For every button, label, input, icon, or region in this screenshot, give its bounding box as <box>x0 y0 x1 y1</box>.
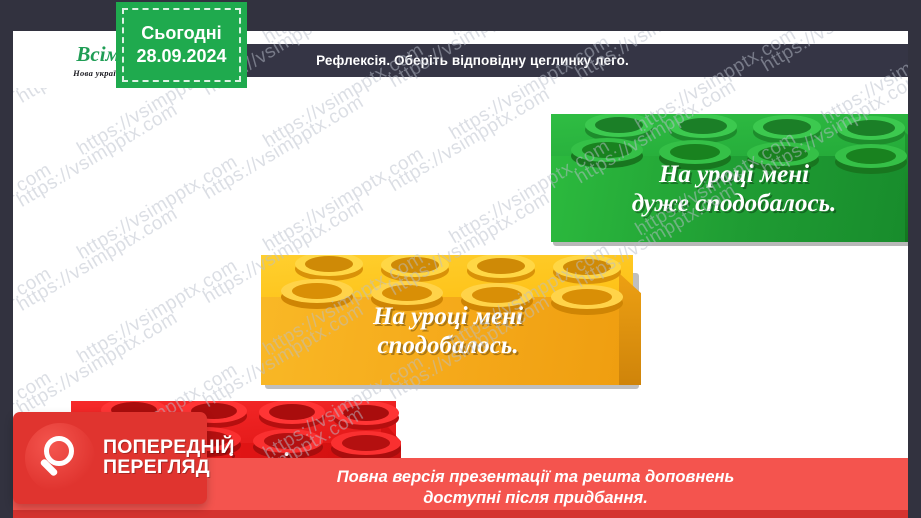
page-title: Рефлексія. Оберіть відповідну цеглинку л… <box>316 53 629 68</box>
brick-label-line1: На уроці мені <box>543 161 908 190</box>
purchase-banner-base <box>13 510 908 518</box>
today-label: Сьогодні <box>141 23 221 44</box>
frame-right <box>908 0 921 518</box>
magnifier-icon <box>25 423 95 493</box>
purchase-banner-text: Повна версія презентації та решта доповн… <box>187 467 735 508</box>
preview-badge-line2: ПЕРЕГЛЯД <box>103 458 235 478</box>
brick-label-line2: сподобалось. <box>255 332 641 361</box>
purchase-banner-line2: доступні після придбання. <box>337 488 735 509</box>
purchase-banner-line1: Повна версія презентації та решта доповн… <box>337 467 735 488</box>
brand-logo-name-main: Всім <box>76 42 120 66</box>
brick-label-yellow: На уроці мені сподобалось. <box>255 303 641 360</box>
today-date: 28.09.2024 <box>136 46 226 67</box>
lego-brick-green[interactable]: На уроці мені дуже сподобалось. <box>543 114 908 246</box>
preview-badge-text: ПОПЕРЕДНІЙ ПЕРЕГЛЯД <box>103 438 235 478</box>
brick-label-green: На уроці мені дуже сподобалось. <box>543 161 908 218</box>
brick-label-line2: дуже сподобалось. <box>543 190 908 219</box>
frame-left <box>0 0 13 518</box>
lego-brick-yellow[interactable]: На уроці мені сподобалось. <box>255 255 641 389</box>
preview-badge[interactable]: ПОПЕРЕДНІЙ ПЕРЕГЛЯД <box>13 412 207 504</box>
brick-label-line1: На уроці мені <box>255 303 641 332</box>
slide-canvas: На уроці мені дуже сподобалось. <box>0 0 921 518</box>
today-date-badge: Сьогодні 28.09.2024 <box>116 2 247 88</box>
